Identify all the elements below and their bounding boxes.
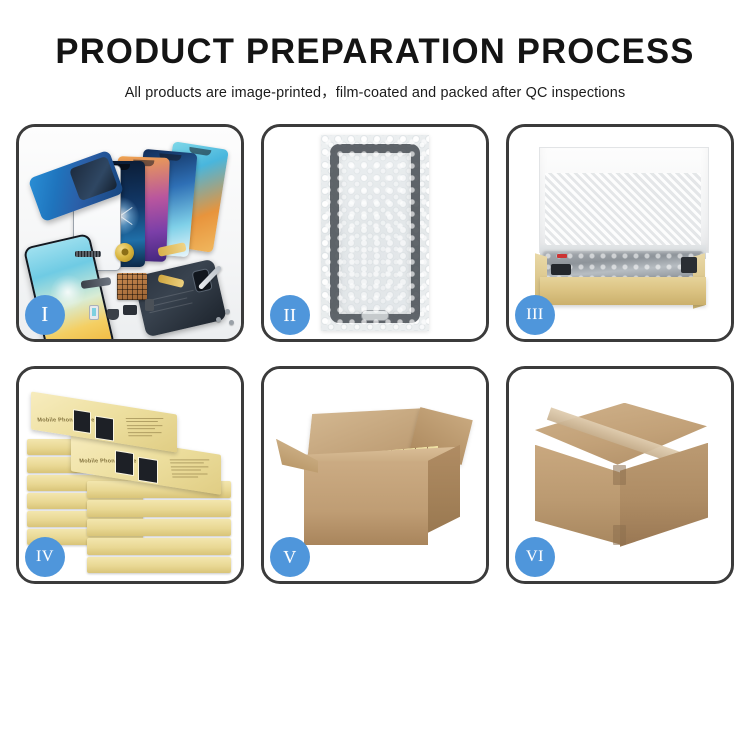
part-connector-bar xyxy=(75,251,101,257)
tray-front-wall xyxy=(540,277,706,305)
part-speaker-module xyxy=(107,309,119,320)
part-screw-b xyxy=(216,317,221,322)
phone-screen-under-wrap xyxy=(330,144,420,323)
retail-box-r3 xyxy=(87,519,231,536)
part-chip-grid xyxy=(117,273,147,300)
step-badge-6: VI xyxy=(515,537,555,577)
part-copper-coil xyxy=(115,243,134,262)
process-step-grid: I II xyxy=(16,124,734,584)
retail-box-r2 xyxy=(87,500,231,517)
carton-front-face xyxy=(304,461,428,545)
page-title: PRODUCT PREPARATION PROCESS xyxy=(4,34,747,71)
carton-corner-tab-top xyxy=(613,465,626,485)
retail-box-r4 xyxy=(87,538,231,555)
process-step-2[interactable]: II xyxy=(261,124,489,342)
part-ic-chip xyxy=(123,305,137,315)
carton-corner-tab-bottom xyxy=(613,525,626,545)
sealed-carton-side-face xyxy=(620,443,708,547)
step-badge-4: IV xyxy=(25,537,65,577)
process-step-1[interactable]: I xyxy=(16,124,244,342)
step-badge-1: I xyxy=(25,295,65,335)
part-sim-tray xyxy=(89,305,99,320)
part-vibrator-motor xyxy=(145,299,154,311)
process-step-6[interactable]: VI xyxy=(506,366,734,584)
part-screw-c xyxy=(229,320,234,325)
retail-box-r5 xyxy=(87,557,231,573)
product-preparation-infographic: PRODUCT PREPARATION PROCESS All products… xyxy=(0,0,750,750)
process-step-5[interactable]: V xyxy=(261,366,489,584)
header: PRODUCT PREPARATION PROCESS All products… xyxy=(0,0,750,102)
bubble-wrap-sheet xyxy=(321,135,429,331)
step-badge-5: V xyxy=(270,537,310,577)
foam-liner xyxy=(545,173,701,251)
step-badge-3: III xyxy=(515,295,555,335)
process-step-4[interactable]: Mobile Phone Spare Parts Mobile Phone Sp… xyxy=(16,366,244,584)
step-badge-2: II xyxy=(270,295,310,335)
process-step-3[interactable]: III xyxy=(506,124,734,342)
page-subtitle: All products are image-printed，film-coat… xyxy=(0,81,750,102)
part-screw-a xyxy=(225,309,230,314)
